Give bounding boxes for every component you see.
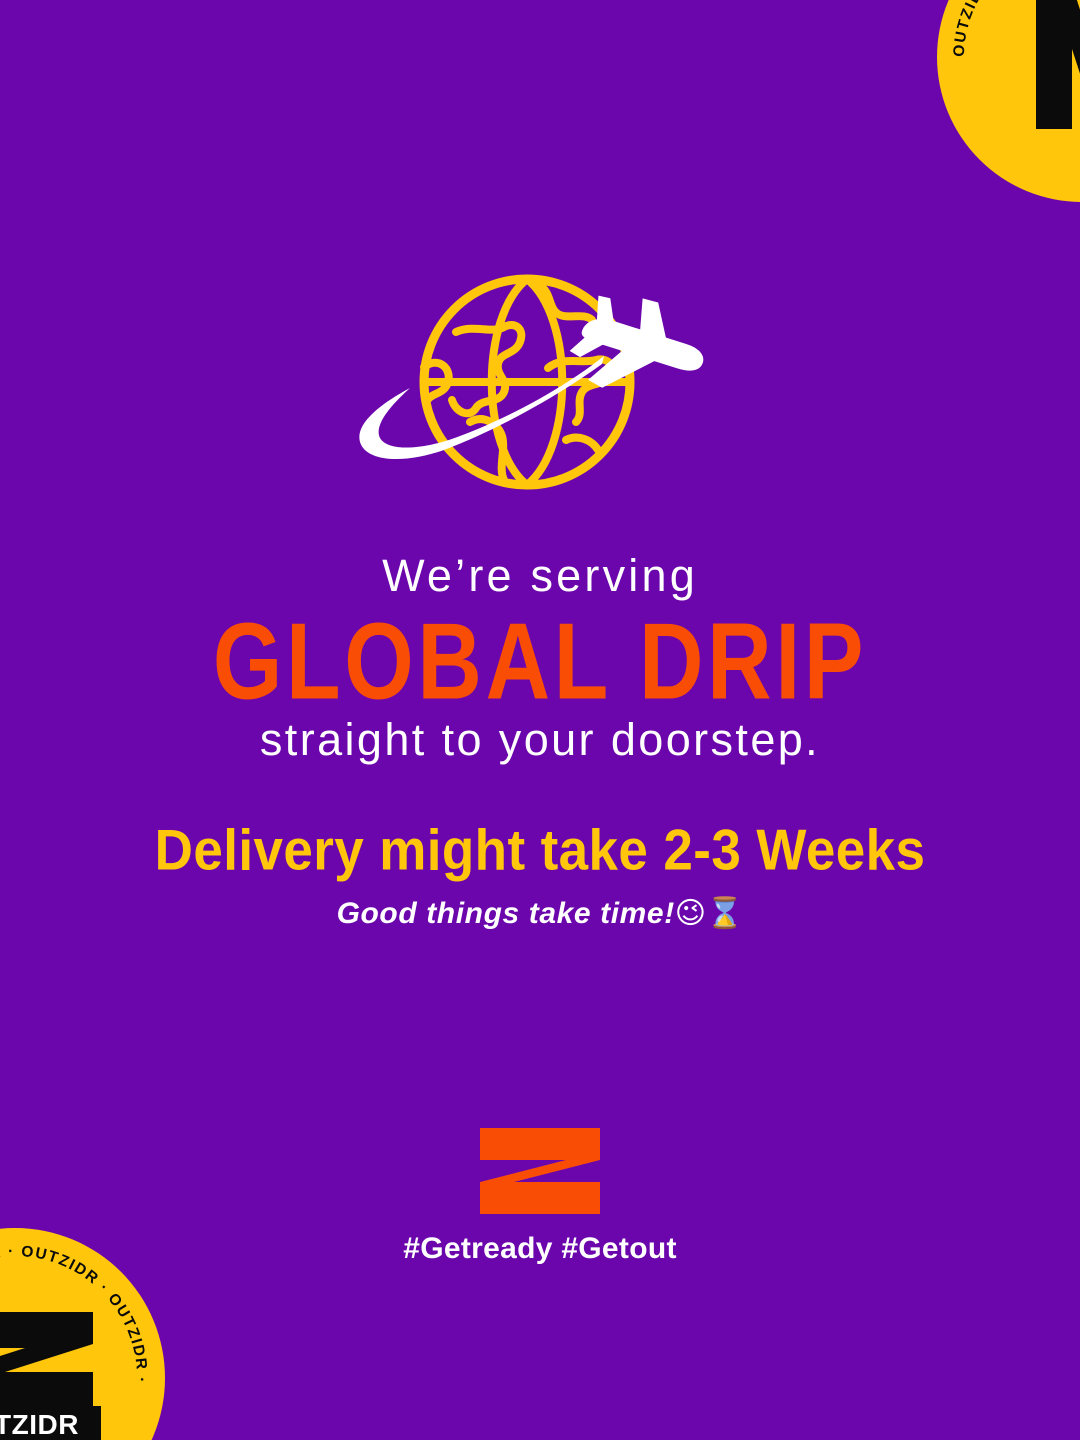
delivery-note-text: Good things take time! [337, 897, 675, 930]
badge-bottom-left: OUTZIDR OUTZIDR · OUTZIDR · OUTZIDR · OU… [0, 1228, 165, 1440]
headline-highlight: GLOBAL DRIP [38, 608, 1042, 716]
globe-with-airplane-illustration [352, 272, 712, 512]
poster-canvas: We’re serving GLOBAL DRIP straight to yo… [0, 0, 1080, 1440]
delivery-note: Good things take time!😉⌛ [0, 897, 1080, 930]
delivery-block: Delivery might take 2-3 Weeks Good thing… [0, 820, 1080, 930]
headline-block: We’re serving GLOBAL DRIP straight to yo… [0, 552, 1080, 763]
headline-subline: straight to your doorstep. [0, 716, 1080, 764]
delivery-headline: Delivery might take 2-3 Weeks [0, 820, 1080, 882]
badge-wordmark-bottom-left: OUTZIDR [0, 1409, 79, 1440]
badge-top-right: OUTZIDR · OUTZIDR · OUTZIDR · OUTZIDR · [937, 0, 1080, 202]
z-logomark [478, 1126, 602, 1216]
wink-hourglass-emoji: 😉⌛ [675, 896, 744, 931]
headline-kicker: We’re serving [0, 552, 1080, 600]
